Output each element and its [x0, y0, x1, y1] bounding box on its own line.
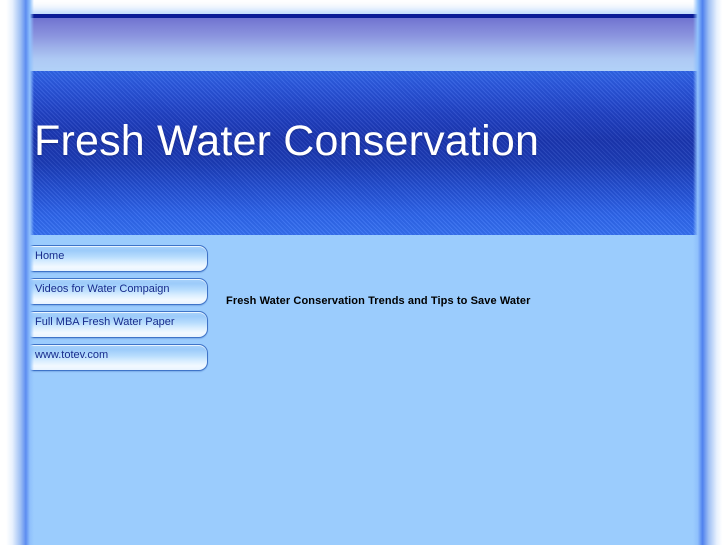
sidebar-item-label: Home [35, 250, 64, 262]
header-gradient-plate [17, 18, 710, 72]
content-area: Home Videos for Water Compaign Full MBA … [12, 235, 715, 545]
sidebar-item-totev[interactable]: www.totev.com [24, 344, 208, 371]
article-heading: Fresh Water Conservation Trends and Tips… [226, 295, 531, 307]
sidebar-item-label: Full MBA Fresh Water Paper [35, 316, 175, 328]
page-root: Fresh Water Conservation Home Videos for… [0, 0, 727, 545]
page-title: Fresh Water Conservation [34, 117, 539, 166]
sidebar-nav: Home Videos for Water Compaign Full MBA … [24, 245, 210, 377]
sidebar-item-paper[interactable]: Full MBA Fresh Water Paper [24, 311, 208, 338]
sidebar-item-label: www.totev.com [35, 349, 108, 361]
sidebar-item-label: Videos for Water Compaign [35, 283, 170, 295]
site-shell: Fresh Water Conservation Home Videos for… [12, 14, 715, 545]
sidebar-item-home[interactable]: Home [24, 245, 208, 272]
sidebar-item-videos[interactable]: Videos for Water Compaign [24, 278, 208, 305]
site-banner: Fresh Water Conservation [12, 71, 715, 235]
content-right-edge [699, 235, 715, 545]
